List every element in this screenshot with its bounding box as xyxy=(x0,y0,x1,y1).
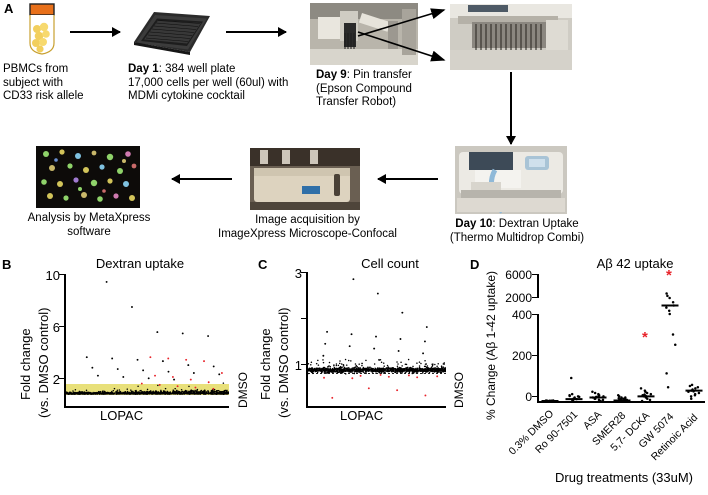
panel-b-xlabel: LOPAC xyxy=(100,408,143,423)
panel-c-ytick-3: 3 xyxy=(288,266,302,281)
multidrop-caption: Day 10: Dextran Uptake (Thermo Multidrop… xyxy=(432,218,602,245)
panel-d-ytick-2000: 2000 xyxy=(490,291,532,305)
384-well-plate-image xyxy=(128,6,214,58)
metaxpress-caption: Analysis by MetaXpress software xyxy=(8,212,170,239)
panel-c-title: Cell count xyxy=(320,256,460,271)
pin-transfer-line1: Pin transfer xyxy=(353,69,412,81)
panel-b-ytick-mark-10 xyxy=(59,274,65,275)
panel-c-ylabel-line1: Fold change xyxy=(258,328,273,400)
panel-d-ytick-200: 200 xyxy=(490,349,532,363)
pbmc-caption: PBMCs from subject with CD33 risk allele xyxy=(3,63,123,104)
panel-c-xlabel: LOPAC xyxy=(340,408,383,423)
metaxpress-analysis-image xyxy=(36,146,140,208)
panel-d-ytick-0: 0 xyxy=(490,390,532,404)
pin-transfer-caption: Day 9: Pin transfer (Epson Compound Tran… xyxy=(316,69,436,110)
panel-c-ytick-mark-3 xyxy=(301,272,307,273)
imagexpress-line1: Image acquisition by xyxy=(255,214,360,226)
pbmc-line1: PBMCs from xyxy=(3,63,68,75)
pin-transfer-line3: Transfer Robot) xyxy=(316,96,396,108)
plate-line2: 17,000 cells per well (60ul) with xyxy=(128,77,288,89)
arrow-pintransfer-to-pinhead xyxy=(356,2,456,64)
plate-line3: MDMi cytokine cocktail xyxy=(128,90,245,102)
panel-c-ytick-mark-2 xyxy=(301,318,306,319)
panel-c-ytick-mark-1 xyxy=(301,364,307,365)
panel-d-ytick-400: 400 xyxy=(490,308,532,322)
panel-a-letter: A xyxy=(4,2,13,15)
plate-caption: Day 1: 384 well plate 17,000 cells per w… xyxy=(128,63,328,104)
panel-d-scatter-plot xyxy=(538,274,706,402)
panel-d-xlabel: Drug treatments (33uM) xyxy=(540,470,708,485)
multidrop-line1: Dextran Uptake xyxy=(499,218,579,230)
multidrop-combi-image xyxy=(455,146,567,214)
pbmc-tube-image xyxy=(22,3,62,56)
multidrop-day: Day 10 xyxy=(455,218,492,230)
panel-b-ytick-mark-6 xyxy=(59,326,65,327)
pin-transfer-line2: (Epson Compound xyxy=(316,83,412,95)
panel-b-letter: B xyxy=(2,258,11,271)
panel-d-ytick-6000: 6000 xyxy=(490,268,532,282)
panel-d-title: Aβ 42 uptake xyxy=(565,256,705,271)
imagexpress-microscope-image xyxy=(250,148,360,210)
plate-day: Day 1 xyxy=(128,63,159,75)
panel-b-xlabel-dmso: DMSO xyxy=(236,372,250,408)
plate-line1: 384 well plate xyxy=(165,63,235,75)
arrow-imagexpress-to-metaxpress xyxy=(172,178,232,180)
panel-c-xlabel-dmso: DMSO xyxy=(452,372,466,408)
multidrop-line2: (Thermo Multidrop Combi) xyxy=(450,232,584,244)
panel-c-ytick-1: 1 xyxy=(288,358,302,373)
metaxpress-line2: software xyxy=(67,226,110,238)
pbmc-line3: CD33 risk allele xyxy=(3,90,84,102)
imagexpress-caption: Image acquisition by ImageXpress Microsc… xyxy=(215,214,400,241)
pbmc-line2: subject with xyxy=(3,77,63,89)
arrow-plate-to-pintransfer xyxy=(226,31,286,33)
panel-b-scatter-plot xyxy=(66,274,229,406)
arrow-pinhead-to-multidrop xyxy=(510,72,512,144)
panel-d-category-labels: 0.3% DMSORo 90-7501ASASMER285,7- DCKAGW … xyxy=(538,402,708,472)
panel-b-x-axis xyxy=(64,406,229,408)
imagexpress-line2: ImageXpress Microscope-Confocal xyxy=(218,228,397,240)
arrow-tube-to-plate xyxy=(70,31,120,33)
panel-b-ytick-10: 10 xyxy=(38,268,60,283)
panel-d-letter: D xyxy=(470,258,479,271)
panel-b-ylabel-line1: Fold change xyxy=(18,328,33,400)
panel-b-title: Dextran uptake xyxy=(60,256,220,271)
panel-c-letter: C xyxy=(258,258,267,271)
metaxpress-line1: Analysis by MetaXpress xyxy=(28,212,151,224)
panel-c-scatter-plot xyxy=(308,272,446,406)
panel-b-ytick-mark-2 xyxy=(59,378,65,379)
arrow-multidrop-to-imagexpress xyxy=(378,178,438,180)
panel-b-ytick-2: 2 xyxy=(40,372,60,387)
pin-head-image xyxy=(450,4,572,70)
panel-b-ytick-6: 6 xyxy=(40,320,60,335)
